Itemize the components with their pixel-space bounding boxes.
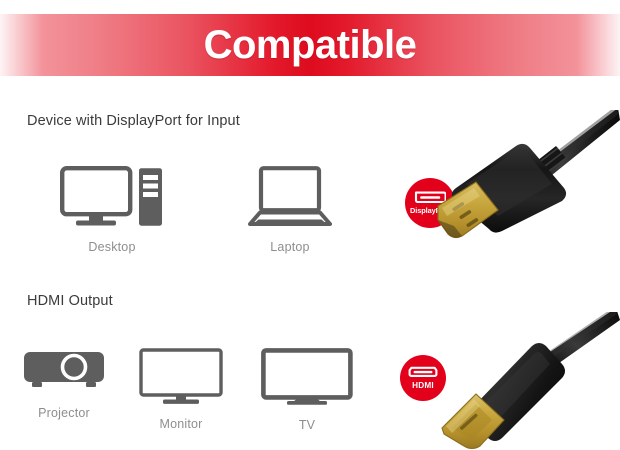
device-label: Monitor [128, 417, 234, 431]
device-laptop: Laptop [232, 166, 348, 254]
badge-label: HDMI [412, 382, 434, 390]
monitor-icon [128, 348, 234, 410]
device-label: Desktop [52, 240, 172, 254]
device-label: Projector [14, 406, 114, 420]
device-monitor: Monitor [128, 348, 234, 431]
device-label: TV [249, 418, 365, 432]
section-heading-displayport: Device with DisplayPort for Input [27, 113, 240, 129]
section-heading-hdmi: HDMI Output [27, 293, 113, 309]
hdmi-port-icon [408, 366, 438, 379]
header-banner: Compatible [0, 14, 620, 76]
device-tv: TV [249, 348, 365, 432]
page-title: Compatible [204, 25, 417, 65]
desktop-icon [52, 166, 172, 233]
device-label: Laptop [232, 240, 348, 254]
device-projector: Projector [14, 348, 114, 420]
tv-icon [249, 348, 365, 411]
compatibility-infographic: Compatible Device with DisplayPort for I… [0, 0, 620, 450]
hdmi-connector [436, 312, 620, 450]
displayport-connector [432, 110, 620, 240]
projector-icon [14, 348, 114, 399]
device-desktop: Desktop [52, 166, 172, 254]
laptop-icon [232, 166, 348, 233]
